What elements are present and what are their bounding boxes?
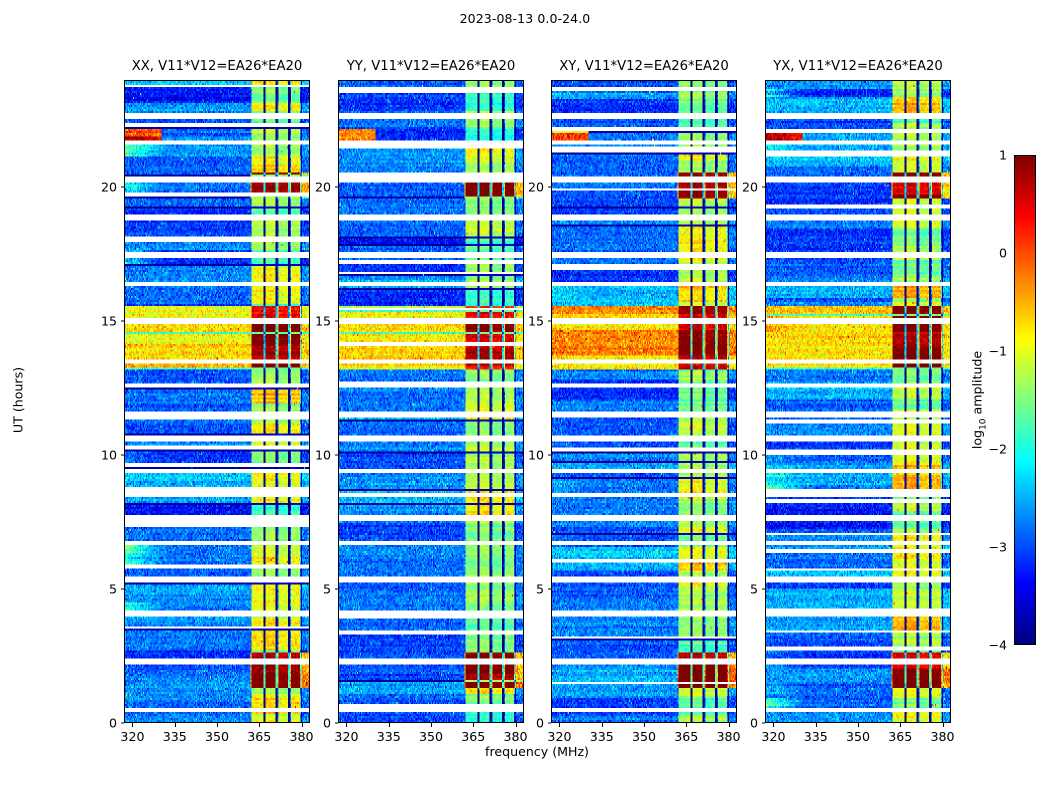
xtick-label: 350 [205, 729, 229, 744]
panel-canvas-xy [552, 81, 736, 722]
panel-title-yy: YY, V11*V12=EA26*EA20 [347, 59, 516, 74]
panel-image-yy [338, 80, 524, 723]
waterfall-panel-xx: XX, V11*V12=EA26*EA203203353503653800510… [124, 80, 310, 723]
ytick-mark [121, 723, 125, 724]
xtick-xx-3: 365 [247, 723, 271, 744]
panel-canvas-yx [766, 81, 950, 722]
waterfall-figure: 2023-08-13 0.0-24.0 UT (hours) frequency… [0, 0, 1050, 800]
xtick-mark [175, 723, 176, 727]
ytick-yx-3: 15 [742, 314, 765, 329]
ytick-yy-3: 15 [315, 314, 338, 329]
xtick-label: 365 [461, 729, 485, 744]
xtick-label: 320 [761, 729, 785, 744]
xtick-mark [431, 723, 432, 727]
xtick-yy-1: 335 [377, 723, 401, 744]
waterfall-panel-yx: YX, V11*V12=EA26*EA203203353503653800510… [765, 80, 951, 723]
ytick-yy-2: 10 [315, 448, 338, 463]
xtick-yx-0: 320 [761, 723, 785, 744]
ytick-yy-1: 5 [323, 582, 338, 597]
colorbar-tick-1: −3 [988, 540, 1014, 555]
xtick-yy-3: 365 [461, 723, 485, 744]
ytick-yy-4: 20 [315, 180, 338, 195]
xtick-mark [473, 723, 474, 727]
ytick-label: 20 [742, 180, 758, 195]
panel-image-xy [551, 80, 737, 723]
ytick-label: 20 [315, 180, 331, 195]
xtick-label: 320 [120, 729, 144, 744]
xtick-xy-4: 380 [717, 723, 741, 744]
xtick-mark [389, 723, 390, 727]
xtick-mark [773, 723, 774, 727]
xtick-mark [729, 723, 730, 727]
x-axis-label: frequency (MHz) [485, 744, 589, 759]
panel-title-yx: YX, V11*V12=EA26*EA20 [773, 59, 943, 74]
ytick-mark [121, 455, 125, 456]
ytick-label: 10 [101, 448, 117, 463]
xtick-label: 350 [632, 729, 656, 744]
ytick-mark [335, 455, 339, 456]
xtick-yx-2: 350 [846, 723, 870, 744]
ytick-mark [762, 455, 766, 456]
ytick-mark [121, 589, 125, 590]
colorbar-tick-label: −3 [988, 540, 1007, 555]
colorbar-tick-label: −1 [988, 344, 1007, 359]
panel-canvas-xx [125, 81, 309, 722]
ytick-label: 10 [528, 448, 544, 463]
ytick-mark [121, 321, 125, 322]
y-axis-label: UT (hours) [11, 367, 26, 433]
ytick-mark [335, 187, 339, 188]
ytick-label: 20 [528, 180, 544, 195]
colorbar-tick-label: −2 [988, 442, 1007, 457]
ytick-xx-2: 10 [101, 448, 124, 463]
ytick-mark [548, 455, 552, 456]
xtick-mark [516, 723, 517, 727]
xtick-xy-3: 365 [674, 723, 698, 744]
colorbar [1014, 155, 1036, 645]
xtick-label: 380 [717, 729, 741, 744]
colorbar-tick-4: 0 [999, 246, 1014, 261]
ytick-xx-4: 20 [101, 180, 124, 195]
ytick-xy-2: 10 [528, 448, 551, 463]
xtick-label: 380 [931, 729, 955, 744]
ytick-label: 20 [101, 180, 117, 195]
ytick-xy-4: 20 [528, 180, 551, 195]
ytick-yy-0: 0 [323, 716, 338, 731]
xtick-mark [900, 723, 901, 727]
ytick-mark [762, 321, 766, 322]
ytick-label: 5 [109, 582, 117, 597]
xtick-mark [259, 723, 260, 727]
xtick-yx-3: 365 [888, 723, 912, 744]
xtick-label: 335 [590, 729, 614, 744]
colorbar-tick-2: −2 [988, 442, 1014, 457]
xtick-xy-2: 350 [632, 723, 656, 744]
colorbar-label-suffix: amplitude [970, 351, 985, 419]
ytick-label: 0 [536, 716, 544, 731]
ytick-label: 5 [750, 582, 758, 597]
ytick-mark [762, 723, 766, 724]
xtick-label: 335 [804, 729, 828, 744]
colorbar-tick-label: −4 [988, 638, 1007, 653]
xtick-mark [858, 723, 859, 727]
xtick-mark [943, 723, 944, 727]
ytick-label: 0 [109, 716, 117, 731]
xtick-label: 365 [247, 729, 271, 744]
xtick-xx-4: 380 [290, 723, 314, 744]
ytick-label: 15 [528, 314, 544, 329]
ytick-mark [548, 589, 552, 590]
ytick-label: 10 [742, 448, 758, 463]
panel-canvas-yy [339, 81, 523, 722]
xtick-yx-1: 335 [804, 723, 828, 744]
xtick-label: 380 [504, 729, 528, 744]
colorbar-tick-label: 0 [999, 246, 1007, 261]
ytick-xx-1: 5 [109, 582, 124, 597]
xtick-mark [346, 723, 347, 727]
ytick-yx-4: 20 [742, 180, 765, 195]
ytick-label: 15 [315, 314, 331, 329]
xtick-label: 380 [290, 729, 314, 744]
xtick-xy-1: 335 [590, 723, 614, 744]
panel-image-yx [765, 80, 951, 723]
ytick-label: 0 [323, 716, 331, 731]
ytick-mark [762, 589, 766, 590]
xtick-mark [644, 723, 645, 727]
ytick-xx-3: 15 [101, 314, 124, 329]
waterfall-panel-yy: YY, V11*V12=EA26*EA203203353503653800510… [338, 80, 524, 723]
ytick-label: 10 [315, 448, 331, 463]
ytick-xy-3: 15 [528, 314, 551, 329]
ytick-mark [335, 321, 339, 322]
xtick-mark [217, 723, 218, 727]
xtick-mark [816, 723, 817, 727]
panel-title-xx: XX, V11*V12=EA26*EA20 [132, 59, 303, 74]
xtick-mark [686, 723, 687, 727]
xtick-label: 320 [547, 729, 571, 744]
colorbar-label: log10 amplitude [970, 351, 989, 449]
xtick-xx-0: 320 [120, 723, 144, 744]
colorbar-gradient [1015, 156, 1035, 644]
ytick-label: 15 [101, 314, 117, 329]
xtick-xy-0: 320 [547, 723, 571, 744]
waterfall-panel-xy: XY, V11*V12=EA26*EA203203353503653800510… [551, 80, 737, 723]
panel-title-xy: XY, V11*V12=EA26*EA20 [559, 59, 729, 74]
ytick-yx-2: 10 [742, 448, 765, 463]
ytick-xy-1: 5 [536, 582, 551, 597]
xtick-label: 365 [674, 729, 698, 744]
ytick-label: 0 [750, 716, 758, 731]
xtick-label: 350 [846, 729, 870, 744]
xtick-xx-1: 335 [163, 723, 187, 744]
xtick-xx-2: 350 [205, 723, 229, 744]
colorbar-label-sub: 10 [978, 419, 988, 430]
ytick-yx-1: 5 [750, 582, 765, 597]
xtick-mark [559, 723, 560, 727]
xtick-label: 335 [377, 729, 401, 744]
colorbar-tick-0: −4 [988, 638, 1014, 653]
ytick-mark [762, 187, 766, 188]
colorbar-tick-label: 1 [999, 148, 1007, 163]
xtick-yy-0: 320 [334, 723, 358, 744]
xtick-mark [602, 723, 603, 727]
xtick-label: 320 [334, 729, 358, 744]
ytick-mark [548, 187, 552, 188]
ytick-mark [121, 187, 125, 188]
panel-image-xx [124, 80, 310, 723]
xtick-yy-4: 380 [504, 723, 528, 744]
ytick-mark [335, 723, 339, 724]
xtick-yy-2: 350 [419, 723, 443, 744]
xtick-mark [132, 723, 133, 727]
xtick-yx-4: 380 [931, 723, 955, 744]
xtick-label: 365 [888, 729, 912, 744]
ytick-mark [335, 589, 339, 590]
xtick-label: 335 [163, 729, 187, 744]
ytick-xx-0: 0 [109, 716, 124, 731]
ytick-yx-0: 0 [750, 716, 765, 731]
xtick-label: 350 [419, 729, 443, 744]
colorbar-tick-3: −1 [988, 344, 1014, 359]
ytick-label: 5 [536, 582, 544, 597]
xtick-mark [302, 723, 303, 727]
ytick-label: 5 [323, 582, 331, 597]
figure-suptitle: 2023-08-13 0.0-24.0 [0, 11, 1050, 26]
ytick-xy-0: 0 [536, 716, 551, 731]
ytick-mark [548, 321, 552, 322]
colorbar-tick-5: 1 [999, 148, 1014, 163]
ytick-mark [548, 723, 552, 724]
colorbar-label-prefix: log [970, 430, 985, 449]
ytick-label: 15 [742, 314, 758, 329]
